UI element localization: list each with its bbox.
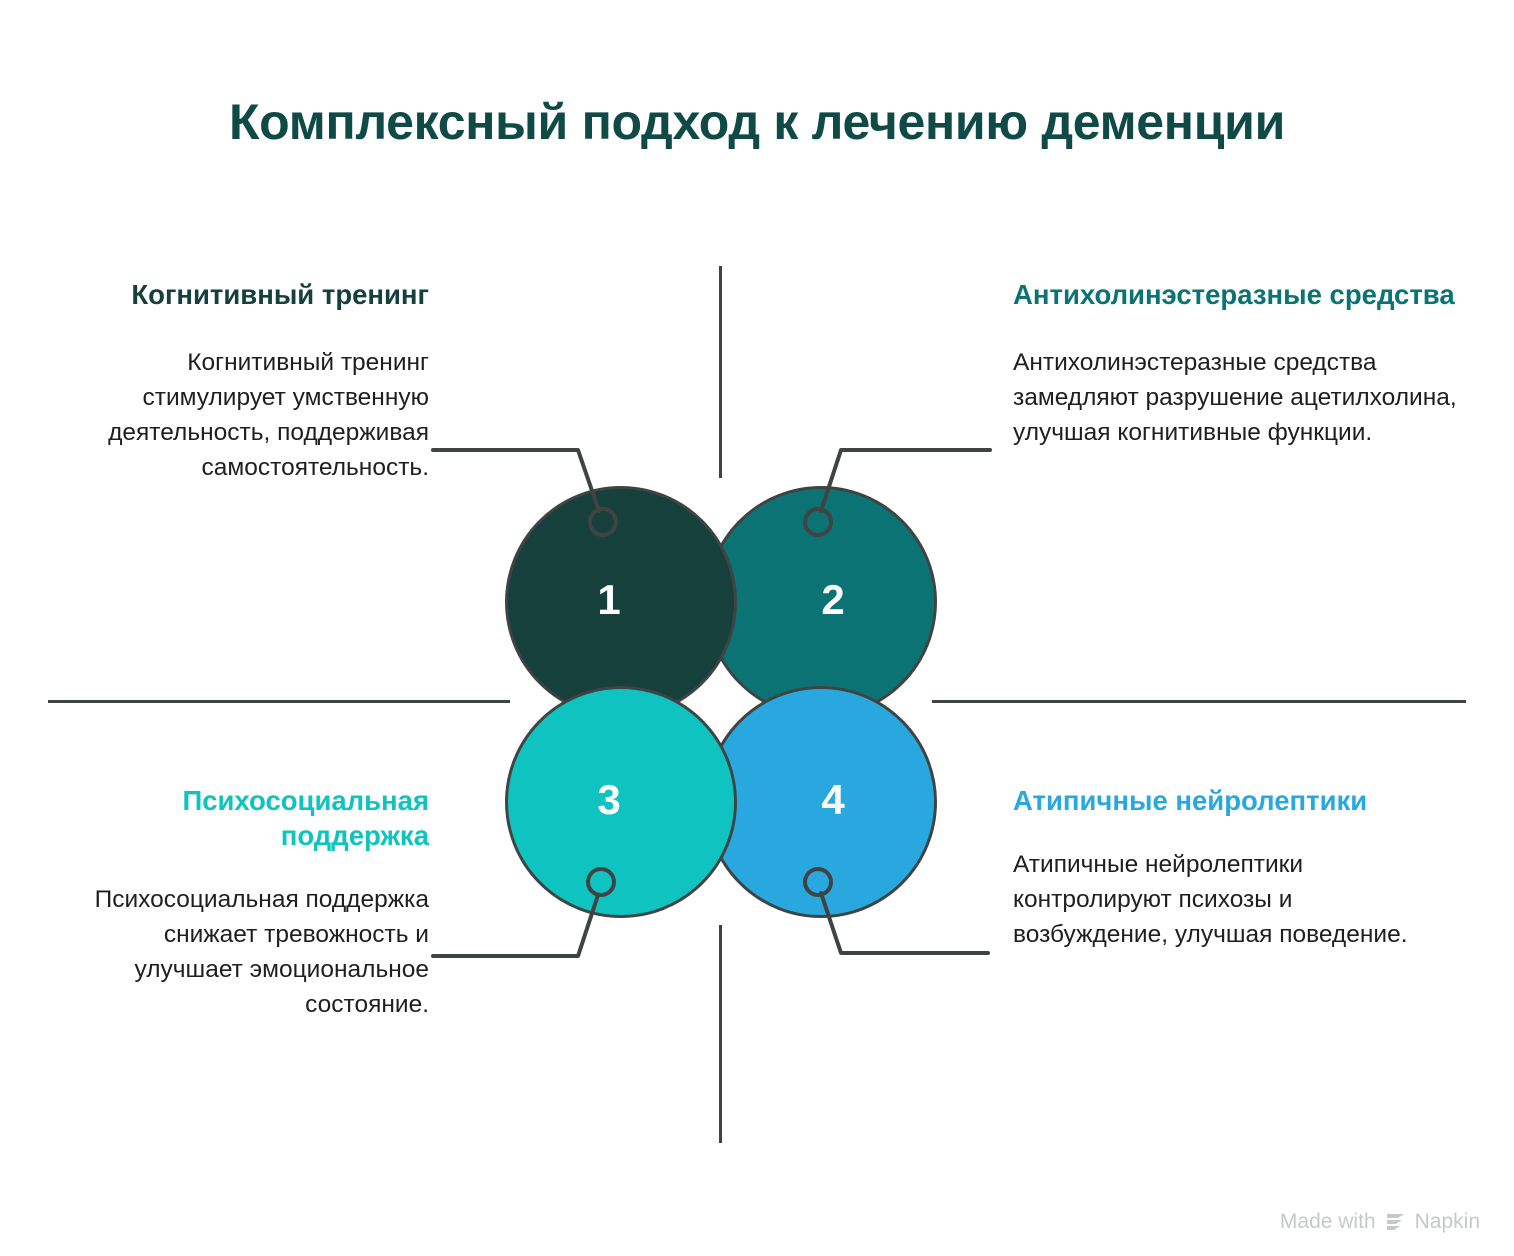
circle-4-number: 4 bbox=[821, 776, 844, 824]
quadrant-3-body: Психосоциальная поддержка снижает тревож… bbox=[60, 883, 429, 1022]
watermark-text: Made with bbox=[1280, 1210, 1376, 1234]
divider-horizontal-right bbox=[932, 700, 1466, 703]
quadrant-2-body: Антихолинэстеразные средства замедляют р… bbox=[1013, 346, 1458, 450]
circle-2[interactable]: 2 bbox=[705, 486, 937, 718]
quadrant-4-heading: Атипичные нейролептики bbox=[1013, 783, 1413, 818]
circle-1[interactable]: 1 bbox=[505, 486, 737, 718]
quadrant-1-heading: Когнитивный тренинг bbox=[60, 277, 429, 312]
napkin-stripes-icon bbox=[1385, 1213, 1406, 1232]
divider-horizontal-left bbox=[48, 700, 510, 703]
divider-vertical-bottom bbox=[719, 925, 722, 1143]
circle-3[interactable]: 3 bbox=[505, 686, 737, 918]
circle-3-number: 3 bbox=[597, 776, 620, 824]
quadrant-4-body: Атипичные нейролептики контролируют псих… bbox=[1013, 848, 1413, 952]
circle-2-number: 2 bbox=[821, 576, 844, 624]
quadrant-2-heading: Антихолинэстеразные средства bbox=[1013, 277, 1458, 312]
infographic-canvas: Комплексный подход к лечению деменции Ко… bbox=[0, 0, 1514, 1256]
divider-vertical-top bbox=[719, 266, 722, 478]
circle-cluster: 2 1 4 3 bbox=[505, 486, 937, 918]
circle-1-number: 1 bbox=[597, 576, 620, 624]
watermark-brand: Napkin bbox=[1415, 1210, 1480, 1234]
quadrant-block-4: Атипичные нейролептики Атипичные нейроле… bbox=[1013, 783, 1413, 953]
quadrant-block-3: Психосоциальная поддержка Психосоциальна… bbox=[60, 783, 429, 1023]
quadrant-3-heading: Психосоциальная поддержка bbox=[60, 783, 429, 853]
circle-4[interactable]: 4 bbox=[705, 686, 937, 918]
quadrant-block-1: Когнитивный тренинг Когнитивный тренинг … bbox=[60, 277, 429, 485]
watermark: Made with Napkin bbox=[1280, 1210, 1480, 1234]
quadrant-1-body: Когнитивный тренинг стимулирует умственн… bbox=[60, 346, 429, 485]
quadrant-block-2: Антихолинэстеразные средства Антихолинэс… bbox=[1013, 277, 1458, 451]
page-title: Комплексный подход к лечению деменции bbox=[0, 95, 1514, 150]
